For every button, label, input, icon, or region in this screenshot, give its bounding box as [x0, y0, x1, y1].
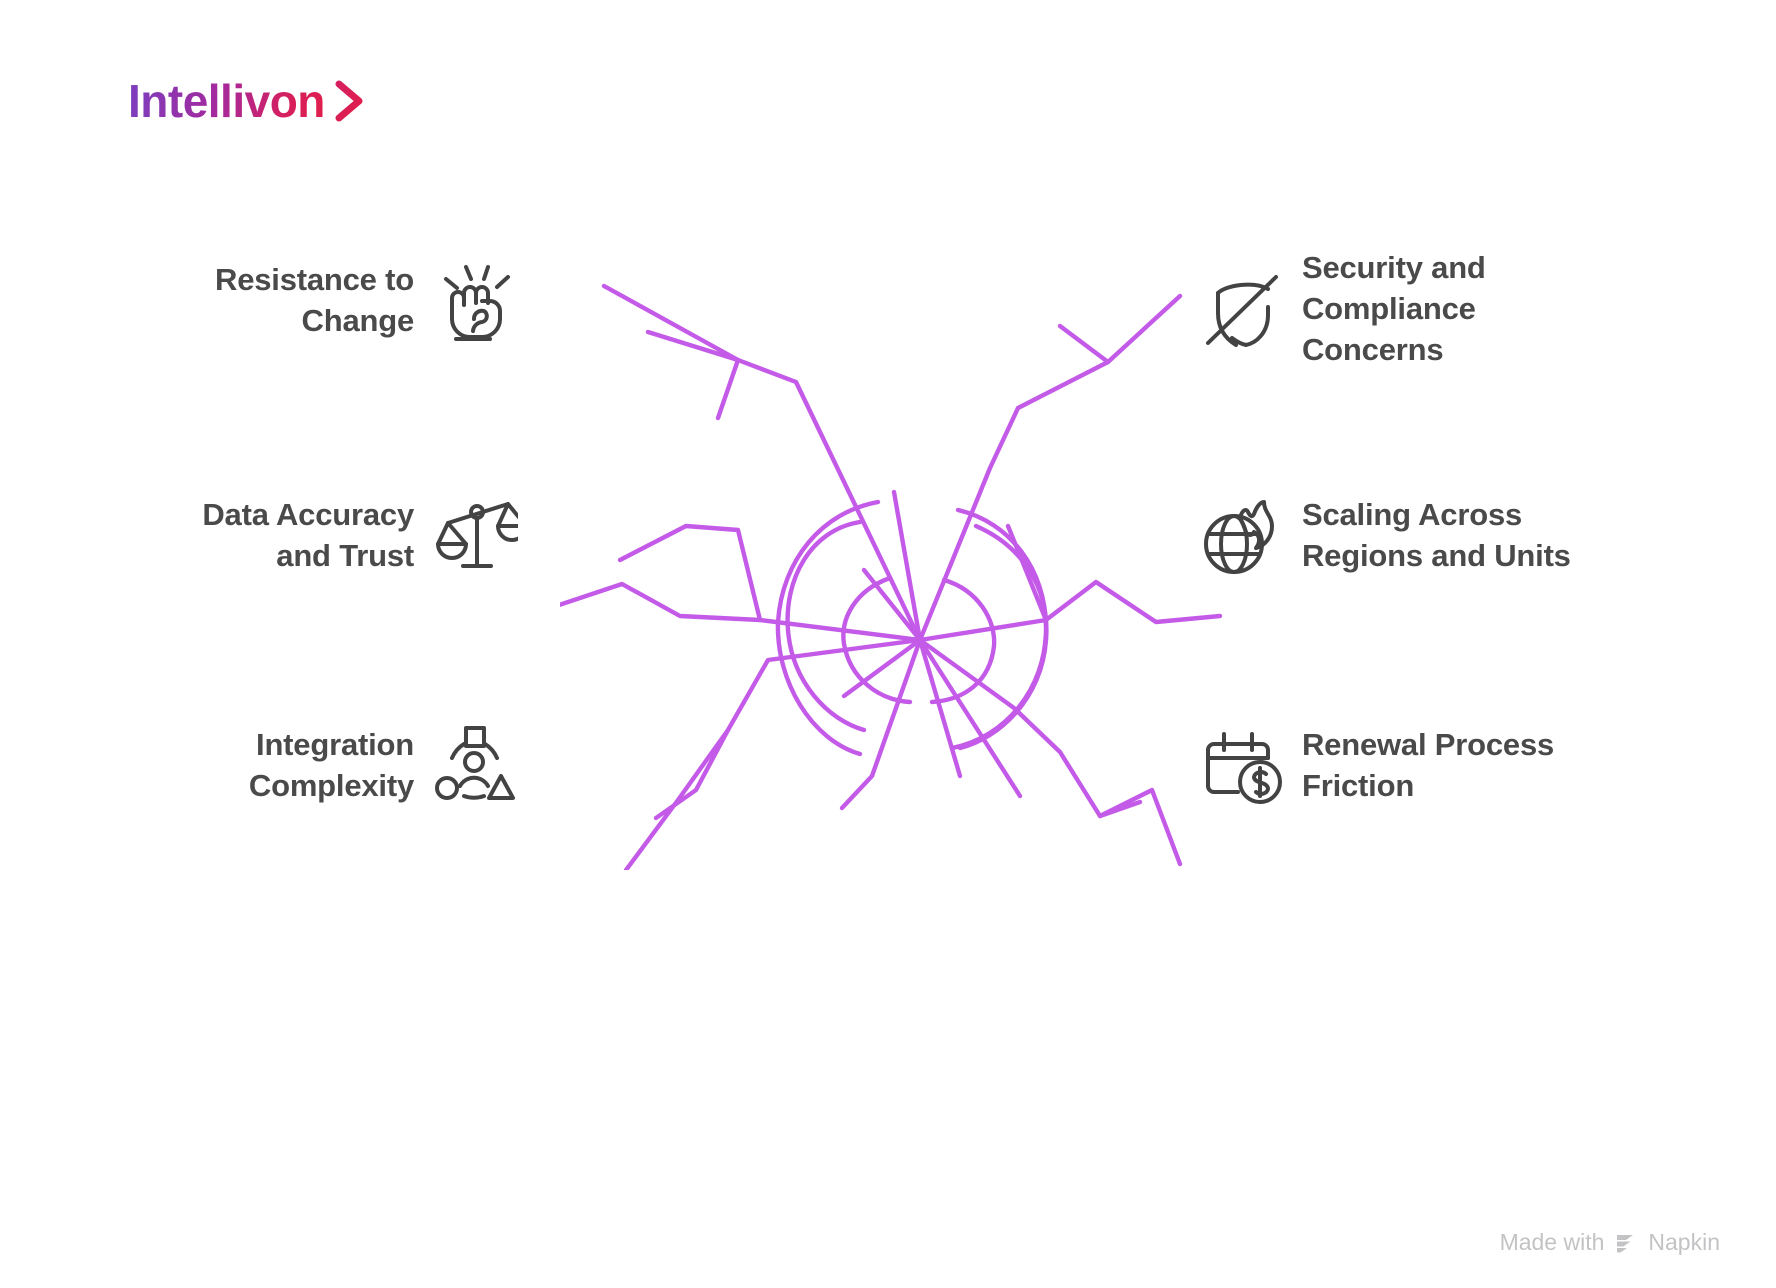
integration-network-icon	[428, 720, 520, 812]
chevron-right-icon	[333, 78, 367, 124]
node-label: Resistance to Change	[215, 260, 414, 342]
napkin-logo-icon	[1613, 1230, 1639, 1256]
node-label: Data Accuracy and Trust	[202, 495, 414, 577]
brand-logo[interactable]: Intellivon	[128, 78, 367, 124]
balance-scale-icon	[428, 490, 520, 582]
raised-fist-icon	[428, 255, 520, 347]
brand-name: Intellivon	[128, 78, 325, 124]
node-label: Scaling Across Regions and Units	[1302, 495, 1571, 577]
footer-product-name: Napkin	[1648, 1229, 1720, 1256]
node-integration-complexity[interactable]: Integration Complexity	[220, 720, 520, 812]
shield-off-icon	[1196, 263, 1288, 355]
globe-flame-icon	[1196, 490, 1288, 582]
node-security-and-compliance-concerns[interactable]: Security and Compliance Concerns	[1196, 248, 1616, 371]
node-resistance-to-change[interactable]: Resistance to Change	[180, 255, 520, 347]
node-label: Integration Complexity	[249, 725, 414, 807]
node-label: Security and Compliance Concerns	[1302, 248, 1486, 371]
node-renewal-process-friction[interactable]: Renewal Process Friction	[1196, 720, 1616, 812]
node-label: Renewal Process Friction	[1302, 725, 1554, 807]
node-data-accuracy-and-trust[interactable]: Data Accuracy and Trust	[170, 490, 520, 582]
slide-canvas: Intellivon	[0, 0, 1776, 1288]
radial-burst-graphic	[560, 230, 1260, 870]
footer-made-with-label: Made with	[1500, 1229, 1605, 1256]
calendar-dollar-icon	[1196, 720, 1288, 812]
made-with-napkin-footer[interactable]: Made with Napkin	[1500, 1229, 1720, 1256]
node-scaling-across-regions-and-units[interactable]: Scaling Across Regions and Units	[1196, 490, 1616, 582]
